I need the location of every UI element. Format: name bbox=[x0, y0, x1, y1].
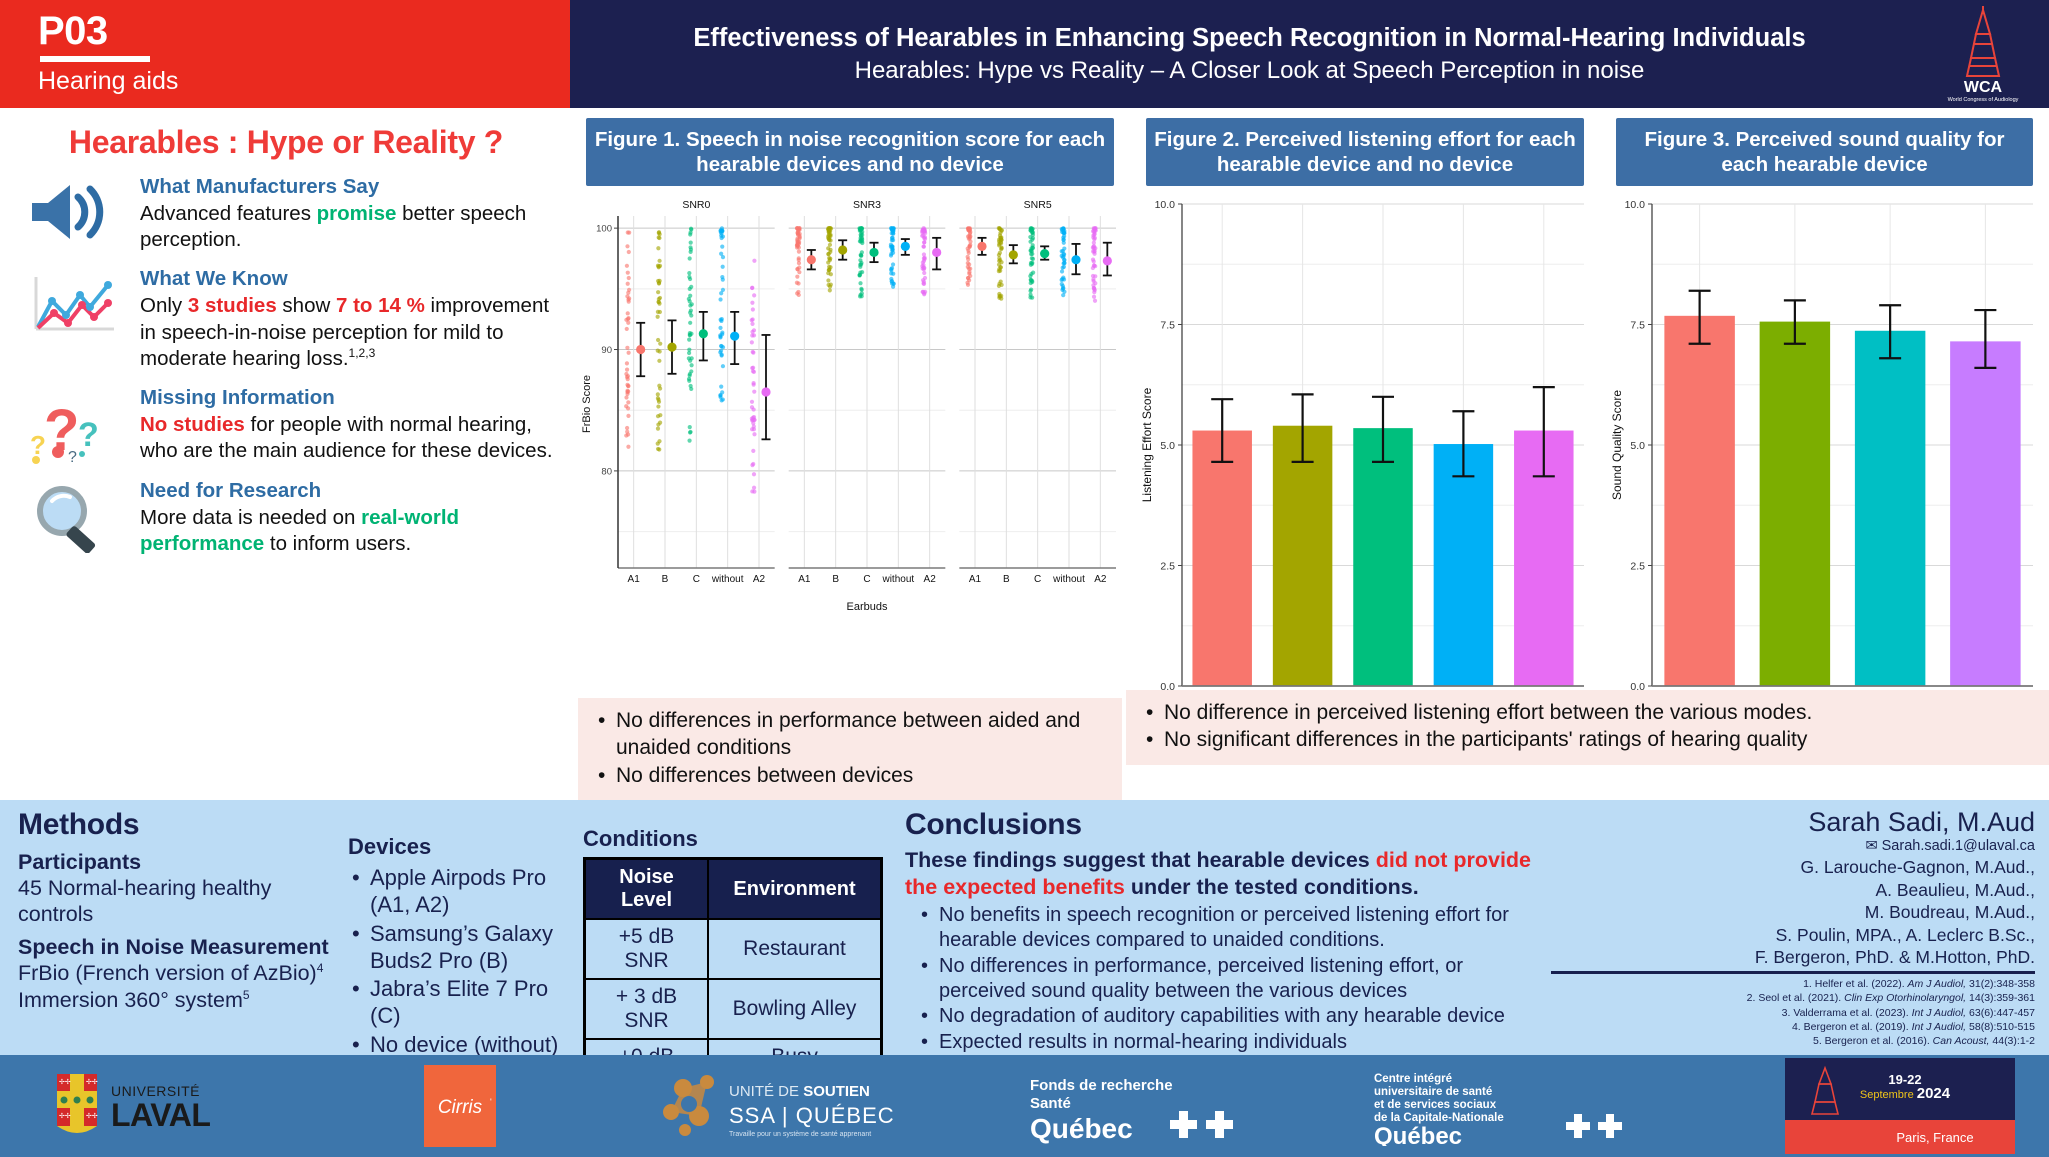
intro-point-title: Missing Information bbox=[140, 386, 554, 410]
unite-soutien-ssa-quebec-logo: UNITÉ DE SOUTIEN SSA | QUÉBEC Travaille … bbox=[620, 1055, 980, 1157]
svg-text:?: ? bbox=[30, 430, 46, 460]
cirris-logo: Cirris ' bbox=[300, 1055, 620, 1157]
figure-3-title: Figure 3. Perceived sound quality for ea… bbox=[1616, 118, 2033, 186]
svg-text:Listening Effort Score: Listening Effort Score bbox=[1140, 387, 1154, 502]
poster-title: Effectiveness of Hearables in Enhancing … bbox=[693, 22, 1805, 55]
bottom-info-panel: Methods Participants 45 Normal-hearing h… bbox=[0, 800, 2049, 1055]
author-email-text: Sarah.sadi.1@ulaval.ca bbox=[1882, 838, 2035, 854]
svg-text:A2: A2 bbox=[1094, 574, 1107, 585]
device-item: Jabra’s Elite 7 Pro (C) bbox=[348, 975, 583, 1030]
reference-journal: Int J Audiol, bbox=[1912, 1021, 1966, 1033]
svg-text:C: C bbox=[1034, 574, 1041, 585]
conclusion-item: No degradation of auditory capabilities … bbox=[919, 1004, 1543, 1029]
figure-2-svg: A1BCWithoutA20.02.55.07.510.0EarbudsList… bbox=[1138, 194, 1592, 734]
line-chart-icon bbox=[18, 267, 130, 339]
svg-text:?: ? bbox=[78, 416, 99, 454]
svg-text:without: without bbox=[711, 574, 744, 585]
condition-noise-level: +5 dB SNR bbox=[585, 919, 709, 979]
reference-superscript: 1,2,3 bbox=[349, 346, 376, 360]
svg-text:Santé: Santé bbox=[1030, 1095, 1071, 1112]
devices-section: Devices Apple Airpods Pro (A1, A2) Samsu… bbox=[348, 808, 583, 1055]
conclusions-section: Conclusions These findings suggest that … bbox=[883, 808, 1543, 1055]
svg-text:Centre intégré: Centre intégré bbox=[1374, 1073, 1452, 1085]
condition-noise-level: + 3 dB SNR bbox=[585, 979, 709, 1039]
conditions-header-row: Noise Level Environment bbox=[585, 859, 882, 920]
figures-right-note-list: No difference in perceived listening eff… bbox=[1142, 699, 2033, 754]
device-item: Samsung’s Galaxy Buds2 Pro (B) bbox=[348, 920, 583, 975]
conditions-col-noise-level: Noise Level bbox=[585, 859, 709, 920]
coauthor-line: A. Beaulieu, M.Aud., bbox=[1551, 879, 2035, 901]
svg-text:100: 100 bbox=[596, 224, 612, 235]
text-seg: More data is needed on bbox=[140, 506, 361, 529]
text-seg: to inform users. bbox=[264, 532, 411, 555]
hero-question: Hearables : Hype or Reality ? bbox=[18, 124, 554, 161]
measurement-text: FrBio (French version of AzBio) bbox=[18, 961, 317, 985]
svg-text:LAVAL: LAVAL bbox=[111, 1097, 210, 1133]
reference-locator: 63(6):447-457 bbox=[1966, 1007, 2035, 1019]
magnifier-icon bbox=[18, 479, 130, 553]
reference-journal: Am J Audiol, bbox=[1908, 978, 1967, 990]
intro-point-title: Need for Research bbox=[140, 479, 554, 503]
text-seg-highlight: 7 to 14 % bbox=[336, 294, 425, 317]
svg-text:80: 80 bbox=[601, 466, 612, 477]
participants-heading: Participants bbox=[18, 850, 340, 875]
reference-number: 5. bbox=[1813, 1035, 1822, 1047]
wca-2024-paris-logo: 19-22 Septembre 2024 Paris, France bbox=[1750, 1055, 2049, 1157]
reference-journal: Can Acoust, bbox=[1933, 1035, 1990, 1047]
svg-text:?: ? bbox=[68, 449, 77, 464]
svg-text:A1: A1 bbox=[798, 574, 811, 585]
svg-text:World Congress of Audiology: World Congress of Audiology bbox=[1948, 97, 2019, 103]
text-seg: Advanced features bbox=[140, 202, 317, 225]
figure-1-note-item: No differences in performance between ai… bbox=[594, 707, 1106, 762]
reference-item: 4. Bergeron et al. (2019). Int J Audiol,… bbox=[1551, 1020, 2035, 1034]
svg-text:Earbuds: Earbuds bbox=[847, 601, 888, 613]
svg-text:Cirris: Cirris bbox=[438, 1097, 483, 1118]
svg-text:SSA | QUÉBEC: SSA | QUÉBEC bbox=[729, 1103, 895, 1128]
reference-number: 4. bbox=[1792, 1021, 1801, 1033]
text-seg: Only bbox=[140, 294, 188, 317]
universite-laval-logo: ✢✢✢✢ ✢✢✢✢ UNIVERSITÉ LAVAL bbox=[0, 1055, 300, 1157]
svg-text:✢✢: ✢✢ bbox=[59, 1112, 71, 1120]
svg-text:WCA: WCA bbox=[1964, 79, 2003, 96]
figure-1-title: Figure 1. Speech in noise recognition sc… bbox=[586, 118, 1114, 186]
conclusions-list: No benefits in speech recognition or per… bbox=[905, 903, 1543, 1055]
svg-text:A2: A2 bbox=[924, 574, 937, 585]
figure-1-note-item: No differences between devices bbox=[594, 762, 1106, 789]
svg-text:5.0: 5.0 bbox=[1630, 440, 1645, 452]
svg-text:10.0: 10.0 bbox=[1155, 199, 1176, 211]
svg-text:7.5: 7.5 bbox=[1160, 320, 1175, 332]
conclusions-heading: Conclusions bbox=[905, 808, 1543, 842]
measurement-heading: Speech in Noise Measurement bbox=[18, 935, 340, 960]
poster-category: Hearing aids bbox=[38, 67, 570, 96]
reference-locator: 58(8):510-515 bbox=[1966, 1021, 2035, 1033]
intro-point-missing-info: ? ? ? ? Missing Information No studies f… bbox=[18, 386, 554, 464]
intro-point-text: Only 3 studies show 7 to 14 % improvemen… bbox=[140, 293, 554, 372]
device-item: No device (without) bbox=[348, 1031, 583, 1058]
text-seg-highlight: 3 studies bbox=[188, 294, 277, 317]
svg-text:SNR3: SNR3 bbox=[853, 199, 881, 211]
authors-divider-rule bbox=[1551, 971, 2035, 974]
intro-point-text: No studies for people with normal hearin… bbox=[140, 412, 554, 464]
reference-item: 5. Bergeron et al. (2016). Can Acoust, 4… bbox=[1551, 1034, 2035, 1048]
reference-journal: Int J Audiol, bbox=[1912, 1007, 1966, 1019]
poster-header: P03 Hearing aids Effectiveness of Hearab… bbox=[0, 0, 2049, 108]
device-item: Apple Airpods Pro (A1, A2) bbox=[348, 864, 583, 919]
svg-text:Québec: Québec bbox=[1374, 1123, 1462, 1146]
lead-author-name: Sarah Sadi, M.Aud bbox=[1551, 808, 2035, 836]
devices-list: Apple Airpods Pro (A1, A2) Samsung’s Gal… bbox=[348, 864, 583, 1058]
intro-point-title: What We Know bbox=[140, 267, 554, 291]
coauthor-line: G. Larouche-Gagnon, M.Aud., bbox=[1551, 856, 2035, 878]
coauthor-line: S. Poulin, MPA., A. Leclerc B.Sc., bbox=[1551, 924, 2035, 946]
reference-item: 3. Valderrama et al. (2023). Int J Audio… bbox=[1551, 1006, 2035, 1020]
reference-number: 1. bbox=[1803, 978, 1812, 990]
references-list: 1. Helfer et al. (2022). Am J Audiol, 31… bbox=[1551, 977, 2035, 1048]
svg-text:universitaire de santé: universitaire de santé bbox=[1374, 1086, 1492, 1098]
reference-item: 2. Seol et al. (2021). Clin Exp Otorhino… bbox=[1551, 991, 2035, 1005]
participants-text: 45 Normal-hearing healthy controls bbox=[18, 875, 340, 927]
intro-point-title: What Manufacturers Say bbox=[140, 175, 554, 199]
conditions-heading: Conditions bbox=[583, 826, 883, 852]
reference-item: 1. Helfer et al. (2022). Am J Audiol, 31… bbox=[1551, 977, 2035, 991]
methods-heading: Methods bbox=[18, 808, 340, 842]
authors-section: Sarah Sadi, M.Aud ✉ Sarah.sadi.1@ulaval.… bbox=[1543, 808, 2035, 1055]
fonds-recherche-sante-quebec-logo: Fonds de recherche Santé Québec bbox=[980, 1055, 1330, 1157]
devices-heading: Devices bbox=[348, 834, 583, 860]
poster-code: P03 bbox=[38, 10, 570, 52]
envelope-icon: ✉ bbox=[1865, 838, 1877, 854]
measurement-text: Immersion 360° system bbox=[18, 988, 243, 1012]
svg-text:✢✢: ✢✢ bbox=[86, 1112, 98, 1120]
reference-locator: 14(3):359-361 bbox=[1966, 992, 2035, 1004]
text-seg-highlight: promise bbox=[317, 202, 397, 225]
figure-1-note-list: No differences in performance between ai… bbox=[594, 707, 1106, 789]
figure-1-column: Figure 1. Speech in noise recognition sc… bbox=[570, 108, 1130, 800]
author-email: ✉ Sarah.sadi.1@ulaval.ca bbox=[1551, 838, 2035, 854]
svg-text:': ' bbox=[490, 1097, 492, 1107]
svg-text:A1: A1 bbox=[628, 574, 641, 585]
reference-locator: 31(2):348-358 bbox=[1966, 978, 2035, 990]
svg-text:C: C bbox=[863, 574, 870, 585]
wca-logo: WCA World Congress of Audiology bbox=[1931, 4, 2035, 104]
speaker-icon bbox=[18, 175, 130, 243]
svg-text:Paris, France: Paris, France bbox=[1896, 1130, 1973, 1145]
svg-text:Travaille pour un système de s: Travaille pour un système de santé appre… bbox=[729, 1131, 871, 1138]
svg-text:B: B bbox=[1003, 574, 1010, 585]
svg-text:✢✢: ✢✢ bbox=[86, 1078, 98, 1086]
figures-right-notes: No difference in perceived listening eff… bbox=[1126, 690, 2049, 765]
header-divider-rule bbox=[40, 56, 150, 62]
intro-point-text: More data is needed on real-world perfor… bbox=[140, 505, 554, 557]
poster-subtitle: Hearables: Hype vs Reality – A Closer Lo… bbox=[855, 55, 1645, 86]
text-seg: under the tested conditions. bbox=[1125, 875, 1419, 899]
reference-number: 3. bbox=[1782, 1007, 1791, 1019]
reference-text: Seol et al. (2021). bbox=[1758, 992, 1844, 1004]
conditions-col-environment: Environment bbox=[708, 859, 881, 920]
reference-superscript: 5 bbox=[243, 988, 250, 1002]
svg-text:C: C bbox=[693, 574, 700, 585]
table-row: + 3 dB SNR Bowling Alley bbox=[585, 979, 882, 1039]
svg-text:B: B bbox=[662, 574, 669, 585]
svg-text:A1: A1 bbox=[969, 574, 982, 585]
text-seg-highlight: No studies bbox=[140, 413, 245, 436]
reference-text: Helfer et al. (2022). bbox=[1815, 978, 1908, 990]
reference-journal: Clin Exp Otorhinolaryngol, bbox=[1844, 992, 1966, 1004]
intro-point-text: Advanced features promise better speech … bbox=[140, 201, 554, 253]
reference-text: Bergeron et al. (2016). bbox=[1825, 1035, 1933, 1047]
conclusion-item: Expected results in normal-hearing indiv… bbox=[919, 1030, 1543, 1055]
question-marks-icon: ? ? ? ? bbox=[18, 386, 130, 464]
svg-text:B: B bbox=[832, 574, 839, 585]
intro-point-manufacturers: What Manufacturers Say Advanced features… bbox=[18, 175, 554, 253]
intro-point-need-research: Need for Research More data is needed on… bbox=[18, 479, 554, 557]
svg-text:Québec: Québec bbox=[1030, 1113, 1133, 1144]
intro-point-body: What Manufacturers Say Advanced features… bbox=[140, 175, 554, 253]
intro-point-body: What We Know Only 3 studies show 7 to 14… bbox=[140, 267, 554, 372]
svg-text:without: without bbox=[881, 574, 914, 585]
header-title-block: Effectiveness of Hearables in Enhancing … bbox=[570, 0, 2049, 108]
intro-column: Hearables : Hype or Reality ? What Manuf… bbox=[0, 108, 570, 800]
text-seg: show bbox=[277, 294, 336, 317]
reference-text: Bergeron et al. (2019). bbox=[1804, 1021, 1912, 1033]
svg-text:5.0: 5.0 bbox=[1160, 440, 1175, 452]
conditions-section: Conditions Noise Level Environment +5 dB… bbox=[583, 808, 883, 1055]
reference-number: 2. bbox=[1747, 992, 1756, 1004]
figure-3-svg: A1BCA20.02.55.07.510.0EarbudsSound Quali… bbox=[1608, 194, 2041, 734]
svg-text:2.5: 2.5 bbox=[1630, 561, 1645, 573]
figure-2-title: Figure 2. Perceived listening effort for… bbox=[1146, 118, 1584, 186]
svg-text:FrBio Score: FrBio Score bbox=[581, 375, 593, 433]
reference-text: Valderrama et al. (2023). bbox=[1793, 1007, 1911, 1019]
svg-text:A2: A2 bbox=[753, 574, 766, 585]
conclusion-item: No differences in performance, perceived… bbox=[919, 954, 1543, 1004]
figure-1-notes: No differences in performance between ai… bbox=[578, 698, 1122, 800]
svg-text:SNR5: SNR5 bbox=[1024, 199, 1052, 211]
intro-point-body: Missing Information No studies for peopl… bbox=[140, 386, 554, 464]
condition-environment: Restaurant bbox=[708, 919, 881, 979]
header-poster-id-block: P03 Hearing aids bbox=[0, 0, 570, 108]
reference-locator: 44(3):1-2 bbox=[1989, 1035, 2035, 1047]
svg-text:✢✢: ✢✢ bbox=[59, 1078, 71, 1086]
ciusss-capitale-nationale-logo: Centre intégré universitaire de santé et… bbox=[1330, 1055, 1750, 1157]
table-row: +5 dB SNR Restaurant bbox=[585, 919, 882, 979]
poster-footer: ✢✢✢✢ ✢✢✢✢ UNIVERSITÉ LAVAL Cirris ' bbox=[0, 1055, 2049, 1157]
svg-text:SNR0: SNR0 bbox=[682, 199, 710, 211]
svg-text:10.0: 10.0 bbox=[1625, 199, 1646, 211]
intro-point-what-we-know: What We Know Only 3 studies show 7 to 14… bbox=[18, 267, 554, 372]
svg-text:2.5: 2.5 bbox=[1160, 561, 1175, 573]
conclusions-lead: These findings suggest that hearable dev… bbox=[905, 847, 1543, 901]
coauthor-line: M. Boudreau, M.Aud., bbox=[1551, 901, 2035, 923]
figure-1-plot: FrBio ScoreEarbudsSNR0A1BCwithoutA2SNR3A… bbox=[578, 194, 1122, 698]
measurement-line-1: FrBio (French version of AzBio)4 bbox=[18, 960, 340, 986]
coauthor-line: F. Bergeron, PhD. & M.Hotton, PhD. bbox=[1551, 946, 2035, 968]
svg-text:UNITÉ DE SOUTIEN: UNITÉ DE SOUTIEN bbox=[729, 1083, 870, 1100]
svg-text:7.5: 7.5 bbox=[1630, 320, 1645, 332]
reference-superscript: 4 bbox=[317, 961, 324, 975]
condition-environment: Bowling Alley bbox=[708, 979, 881, 1039]
svg-text:et de services sociaux: et de services sociaux bbox=[1374, 1099, 1497, 1111]
svg-text:without: without bbox=[1052, 574, 1085, 585]
svg-text:90: 90 bbox=[601, 345, 612, 356]
figures-right-note-item: No significant differences in the partic… bbox=[1142, 726, 2033, 753]
figures-right-note-item: No difference in perceived listening eff… bbox=[1142, 699, 2033, 726]
text-seg: These findings suggest that hearable dev… bbox=[905, 848, 1376, 872]
svg-text:Sound Quality Score: Sound Quality Score bbox=[1610, 390, 1624, 500]
intro-point-body: Need for Research More data is needed on… bbox=[140, 479, 554, 557]
figure-1-svg: FrBio ScoreEarbudsSNR0A1BCwithoutA2SNR3A… bbox=[578, 194, 1122, 614]
conclusion-item: No benefits in speech recognition or per… bbox=[919, 903, 1543, 953]
measurement-line-2: Immersion 360° system5 bbox=[18, 987, 340, 1013]
methods-section: Methods Participants 45 Normal-hearing h… bbox=[18, 808, 348, 1055]
svg-text:Fonds de recherche: Fonds de recherche bbox=[1030, 1077, 1173, 1094]
